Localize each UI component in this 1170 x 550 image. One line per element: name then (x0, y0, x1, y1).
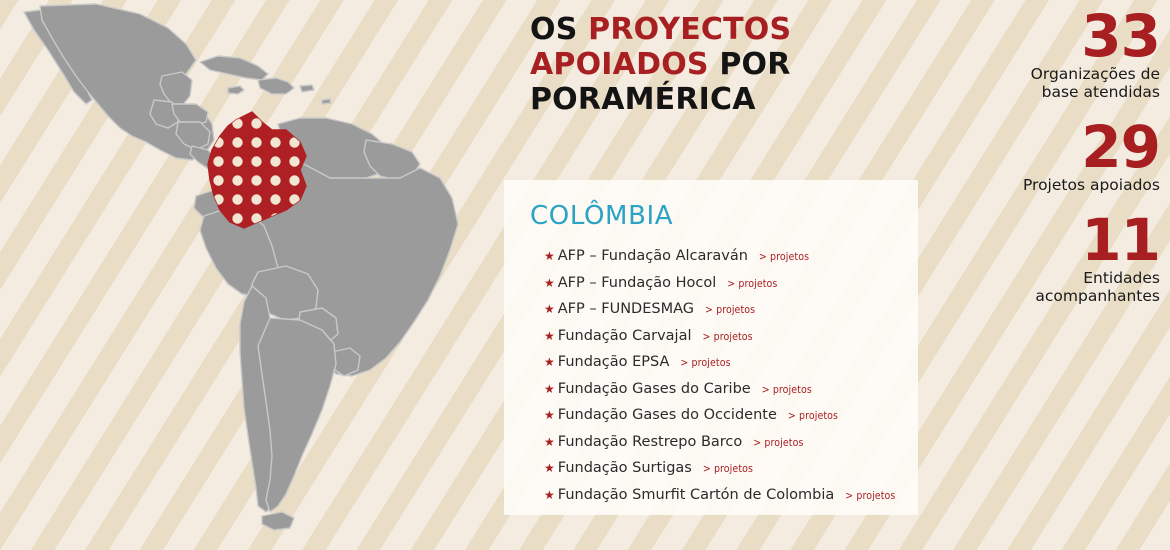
stat-label: Projetos apoiados (930, 177, 1160, 195)
list-item[interactable]: ★ Fundação Gases do Caribe > projetos (544, 381, 910, 408)
latin-america-map (0, 0, 500, 550)
organization-name: AFP – Fundação Hocol (558, 275, 716, 291)
stat-value: 29 (930, 119, 1160, 176)
projects-link[interactable]: > projetos (727, 278, 777, 290)
organization-name: Fundação Restrepo Barco (558, 434, 743, 450)
star-icon: ★ (544, 383, 555, 395)
map-shape-puerto-rico (300, 85, 314, 92)
star-icon: ★ (544, 277, 555, 289)
organization-name: Fundação Gases do Caribe (558, 381, 751, 397)
star-icon: ★ (544, 409, 555, 421)
star-icon: ★ (544, 462, 555, 474)
list-item[interactable]: ★ Fundação EPSA > projetos (544, 354, 910, 381)
list-item[interactable]: ★ Fundação Gases do Occidente > projetos (544, 407, 910, 434)
organization-name: Fundação Gases do Occidente (558, 407, 777, 423)
star-icon: ★ (544, 303, 555, 315)
projects-link[interactable]: > projetos (759, 251, 809, 263)
title-line-1: OS PROYECTOS (530, 12, 930, 47)
map-svg (0, 0, 500, 550)
title-word-poramerica: PORAMÉRICA (530, 82, 756, 117)
projects-link[interactable]: > projetos (703, 463, 753, 475)
organization-name: Fundação Surtigas (558, 460, 692, 476)
projects-link[interactable]: > projetos (845, 490, 895, 502)
projects-link[interactable]: > projetos (680, 357, 730, 369)
organization-name: Fundação Carvajal (558, 328, 692, 344)
title-word-os: OS (530, 12, 588, 47)
colombia-projects-card: COLÔMBIA ★ AFP – Fundação Alcaraván > pr… (504, 180, 918, 515)
map-shape-hispaniola (258, 78, 294, 94)
projects-link[interactable]: > projetos (788, 410, 838, 422)
list-item[interactable]: ★ AFP – Fundação Alcaraván > projetos (544, 248, 910, 275)
stat-projects: 29 Projetos apoiados (930, 119, 1160, 195)
map-shape-tierra-del-fuego (262, 512, 294, 530)
stat-entities: 11 Entidades acompanhantes (930, 212, 1160, 305)
list-item[interactable]: ★ Fundação Smurfit Cartón de Colombia > … (544, 487, 910, 514)
organization-name: AFP – Fundação Alcaraván (558, 248, 748, 264)
stat-label: Entidades acompanhantes (930, 270, 1160, 306)
organization-list: ★ AFP – Fundação Alcaraván > projetos ★ … (544, 248, 910, 513)
title-word-apoiados: APOIADOS (530, 47, 709, 82)
list-item[interactable]: ★ AFP – FUNDESMAG > projetos (544, 301, 910, 328)
star-icon: ★ (544, 436, 555, 448)
stat-value: 33 (930, 8, 1160, 65)
stat-label: Organizações de base atendidas (930, 66, 1160, 102)
star-icon: ★ (544, 250, 555, 262)
stat-value: 11 (930, 212, 1160, 269)
projects-link[interactable]: > projetos (753, 437, 803, 449)
projects-link[interactable]: > projetos (705, 304, 755, 316)
projects-link[interactable]: > projetos (703, 331, 753, 343)
map-shape-cuba (200, 56, 268, 80)
star-icon: ★ (544, 330, 555, 342)
title-word-por: POR (709, 47, 791, 82)
title-line-3: PORAMÉRICA (530, 82, 930, 117)
title-line-2: APOIADOS POR (530, 47, 930, 82)
page-title: OS PROYECTOS APOIADOS POR PORAMÉRICA (530, 12, 930, 117)
infographic-canvas: OS PROYECTOS APOIADOS POR PORAMÉRICA COL… (0, 0, 1170, 550)
map-shape-argentina (258, 318, 336, 512)
organization-name: Fundação EPSA (558, 354, 670, 370)
map-shape-jamaica (228, 86, 244, 94)
projects-link[interactable]: > projetos (762, 384, 812, 396)
list-item[interactable]: ★ AFP – Fundação Hocol > projetos (544, 275, 910, 302)
organization-name: AFP – FUNDESMAG (558, 301, 694, 317)
star-icon: ★ (544, 356, 555, 368)
list-item[interactable]: ★ Fundação Surtigas > projetos (544, 460, 910, 487)
map-shape-small-isles (322, 99, 331, 104)
organization-name: Fundação Smurfit Cartón de Colombia (558, 487, 834, 503)
stat-organizations: 33 Organizações de base atendidas (930, 8, 1160, 101)
list-item[interactable]: ★ Fundação Carvajal > projetos (544, 328, 910, 355)
list-item[interactable]: ★ Fundação Restrepo Barco > projetos (544, 434, 910, 461)
title-word-proyectos: PROYECTOS (588, 12, 791, 47)
statistics-column: 33 Organizações de base atendidas 29 Pro… (930, 0, 1160, 312)
star-icon: ★ (544, 489, 555, 501)
country-heading: COLÔMBIA (530, 201, 673, 231)
